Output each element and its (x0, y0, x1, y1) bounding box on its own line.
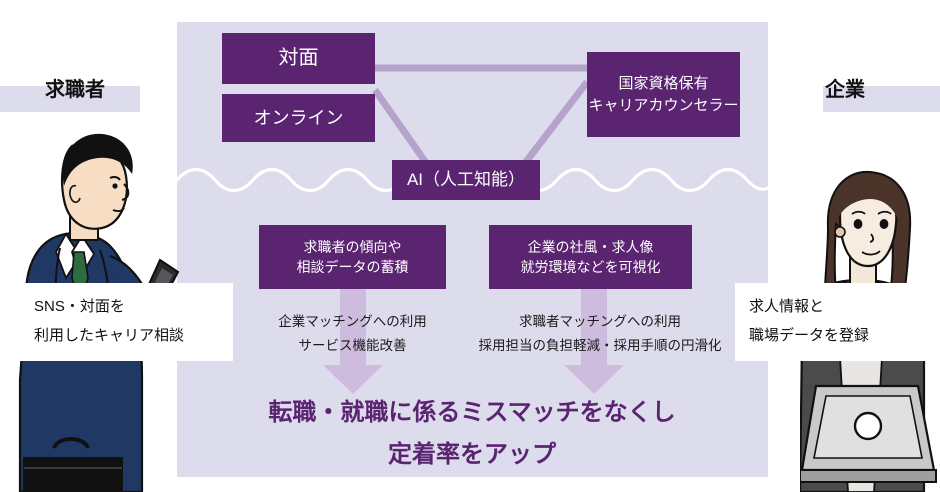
box-jobseeker-data-line-1: 求職者の傾向や (304, 237, 402, 257)
callout-company-line-2: 職場データを登録 (749, 321, 918, 350)
headline-line-2: 定着率をアップ (207, 434, 737, 476)
box-ai[interactable]: AI（人工知能） (392, 160, 540, 200)
box-online-line-1: オンライン (254, 105, 344, 131)
callout-jobseeker: SNS・対面を 利用したキャリア相談 (20, 283, 233, 361)
section-label-company-text: 企業 (825, 73, 865, 102)
callout-jobseeker-line-2: 利用したキャリア相談 (34, 321, 221, 350)
callout-company-line-1: 求人情報と (749, 292, 918, 321)
section-label-company: 企業 (823, 86, 940, 112)
caption-right-line-1: 求職者マッチングへの利用 (455, 310, 745, 334)
box-counselor-line-2: キャリアカウンセラー (588, 95, 738, 117)
callout-company: 求人情報と 職場データを登録 (735, 283, 930, 361)
box-jobseeker-data[interactable]: 求職者の傾向や 相談データの蓄積 (259, 225, 446, 289)
box-face-to-face-line-1: 対面 (279, 44, 319, 73)
caption-left: 企業マッチングへの利用 サービス機能改善 (245, 310, 460, 357)
caption-left-line-2: サービス機能改善 (245, 334, 460, 358)
box-jobseeker-data-line-2: 相談データの蓄積 (297, 257, 409, 277)
box-company-data[interactable]: 企業の社風・求人像 就労環境などを可視化 (489, 225, 692, 289)
headline: 転職・就職に係るミスマッチをなくし 定着率をアップ (207, 392, 737, 476)
callout-jobseeker-line-1: SNS・対面を (34, 292, 221, 321)
caption-right: 求職者マッチングへの利用 採用担当の負担軽減・採用手順の円滑化 (455, 310, 745, 357)
caption-left-line-1: 企業マッチングへの利用 (245, 310, 460, 334)
box-counselor-line-1: 国家資格保有 (618, 73, 708, 95)
box-face-to-face[interactable]: 対面 (222, 33, 375, 84)
box-online[interactable]: オンライン (222, 94, 375, 142)
section-label-jobseeker-text: 求職者 (45, 73, 105, 102)
box-company-data-line-1: 企業の社風・求人像 (528, 237, 654, 257)
caption-right-line-2: 採用担当の負担軽減・採用手順の円滑化 (455, 334, 745, 358)
infographic-canvas: 対面 オンライン 国家資格保有 キャリアカウンセラー AI（人工知能） 求職者の… (0, 0, 940, 492)
box-company-data-line-2: 就労環境などを可視化 (521, 257, 661, 277)
headline-line-1: 転職・就職に係るミスマッチをなくし (207, 392, 737, 434)
box-certified-career-counselor[interactable]: 国家資格保有 キャリアカウンセラー (587, 52, 740, 137)
section-label-jobseeker: 求職者 (0, 86, 140, 112)
box-ai-line-1: AI（人工知能） (407, 168, 525, 193)
